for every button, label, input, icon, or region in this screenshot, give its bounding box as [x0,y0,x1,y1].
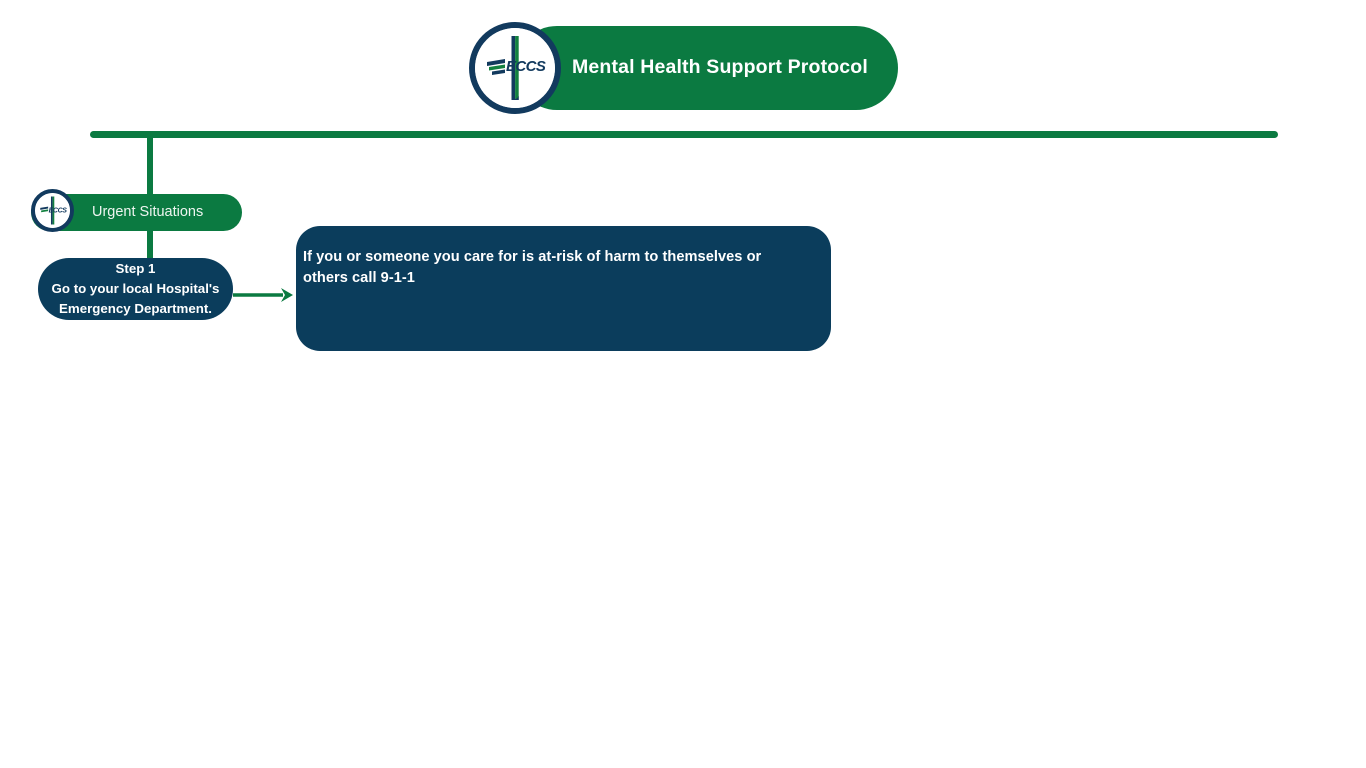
svg-text:ECCS: ECCS [506,58,546,75]
category-label: Urgent Situations [92,201,242,223]
arrow-right-icon [233,286,295,294]
step-title: Step 1 [116,259,156,279]
svg-text:ECCS: ECCS [49,207,68,214]
eccs-cross-logo-icon: ECCS [469,22,561,114]
step-node-1-text: Step 1 Go to your local Hospital's Emerg… [38,259,233,319]
diagram-canvas: ECCS Mental Health Support Protocol ECCS… [0,0,1366,768]
info-line-2: others call 9-1-1 [303,270,415,286]
trunk-horizontal-line [90,131,1278,138]
step-line-2: Emergency Department. [59,299,212,319]
info-callout-text: If you or someone you care for is at-ris… [303,247,803,289]
page-title: Mental Health Support Protocol [572,55,892,79]
category-eccs-cross-logo-icon: ECCS [31,189,74,232]
info-line-1: If you or someone you care for is at-ris… [303,249,761,265]
step-line-1: Go to your local Hospital's [52,279,220,299]
